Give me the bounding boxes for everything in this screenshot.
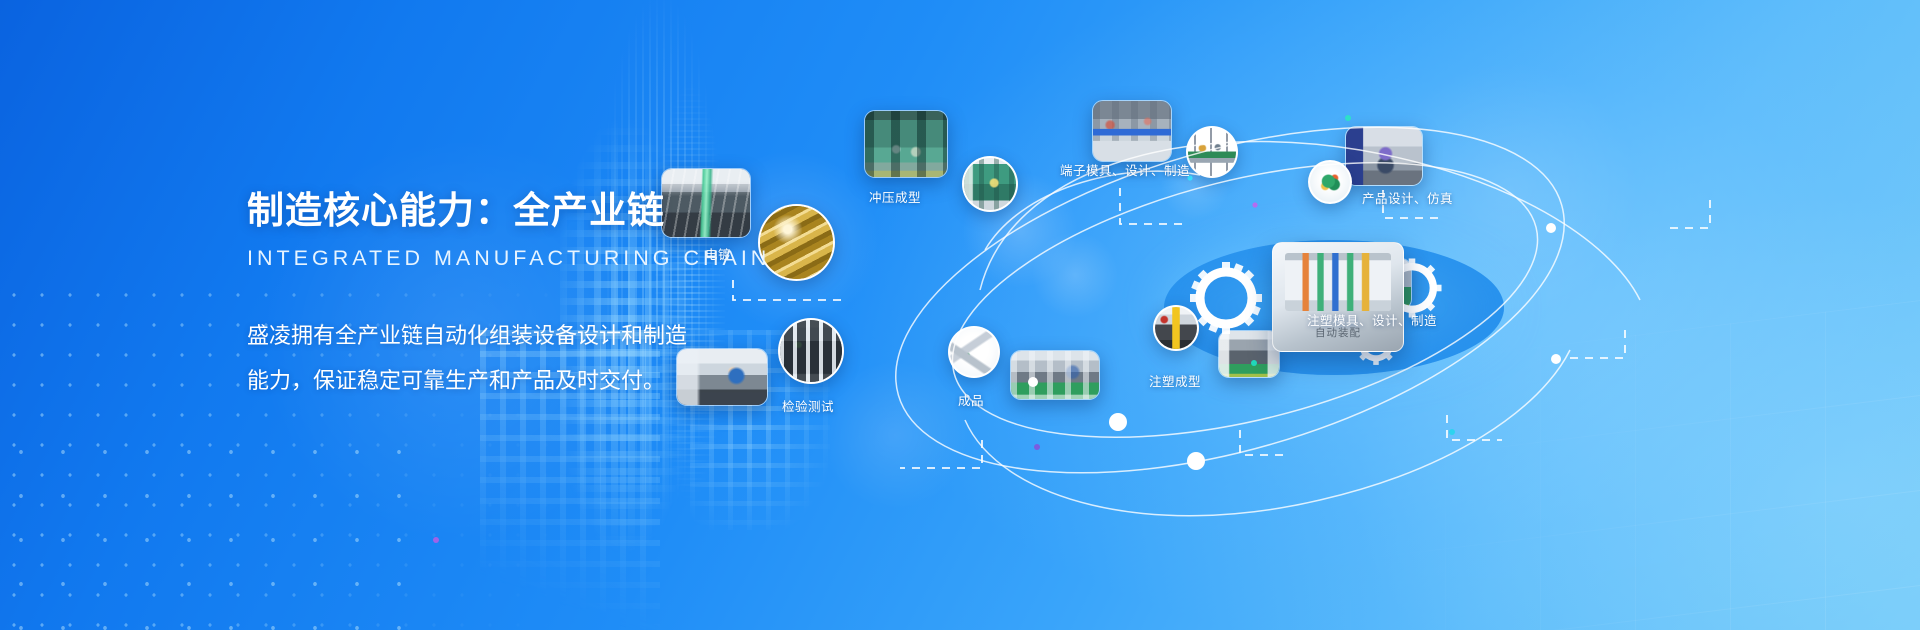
page-description: 盛凌拥有全产业链自动化组装设备设计和制造能力，保证稳定可靠生产和产品及时交付。 [247,313,692,403]
page-subtitle: INTEGRATED MANUFACTURING CHAIN [247,246,707,271]
page-title: 制造核心能力：全产业链 [247,180,707,234]
node-inspection-label: 检验测试 [782,396,834,415]
node-finished-goods-label: 成品 [958,390,984,409]
node-injection-form-label: 注塑成型 [1149,371,1201,390]
node-stamping-label: 冲压成型 [869,187,921,206]
banner-text-block: 制造核心能力：全产业链 INTEGRATED MANUFACTURING CHA… [247,180,707,403]
node-terminal-mold-label: 端子模具、设计、制造 [1060,160,1190,179]
manufacturing-banner: 制造核心能力：全产业链 INTEGRATED MANUFACTURING CHA… [0,0,1920,630]
node-product-design-label: 产品设计、仿真 [1362,188,1453,207]
automation-device: 自动装配 [1272,242,1404,352]
node-injection-mold-label: 注塑模具、设计、制造 [1307,310,1437,329]
device-mold-view [1285,253,1391,311]
